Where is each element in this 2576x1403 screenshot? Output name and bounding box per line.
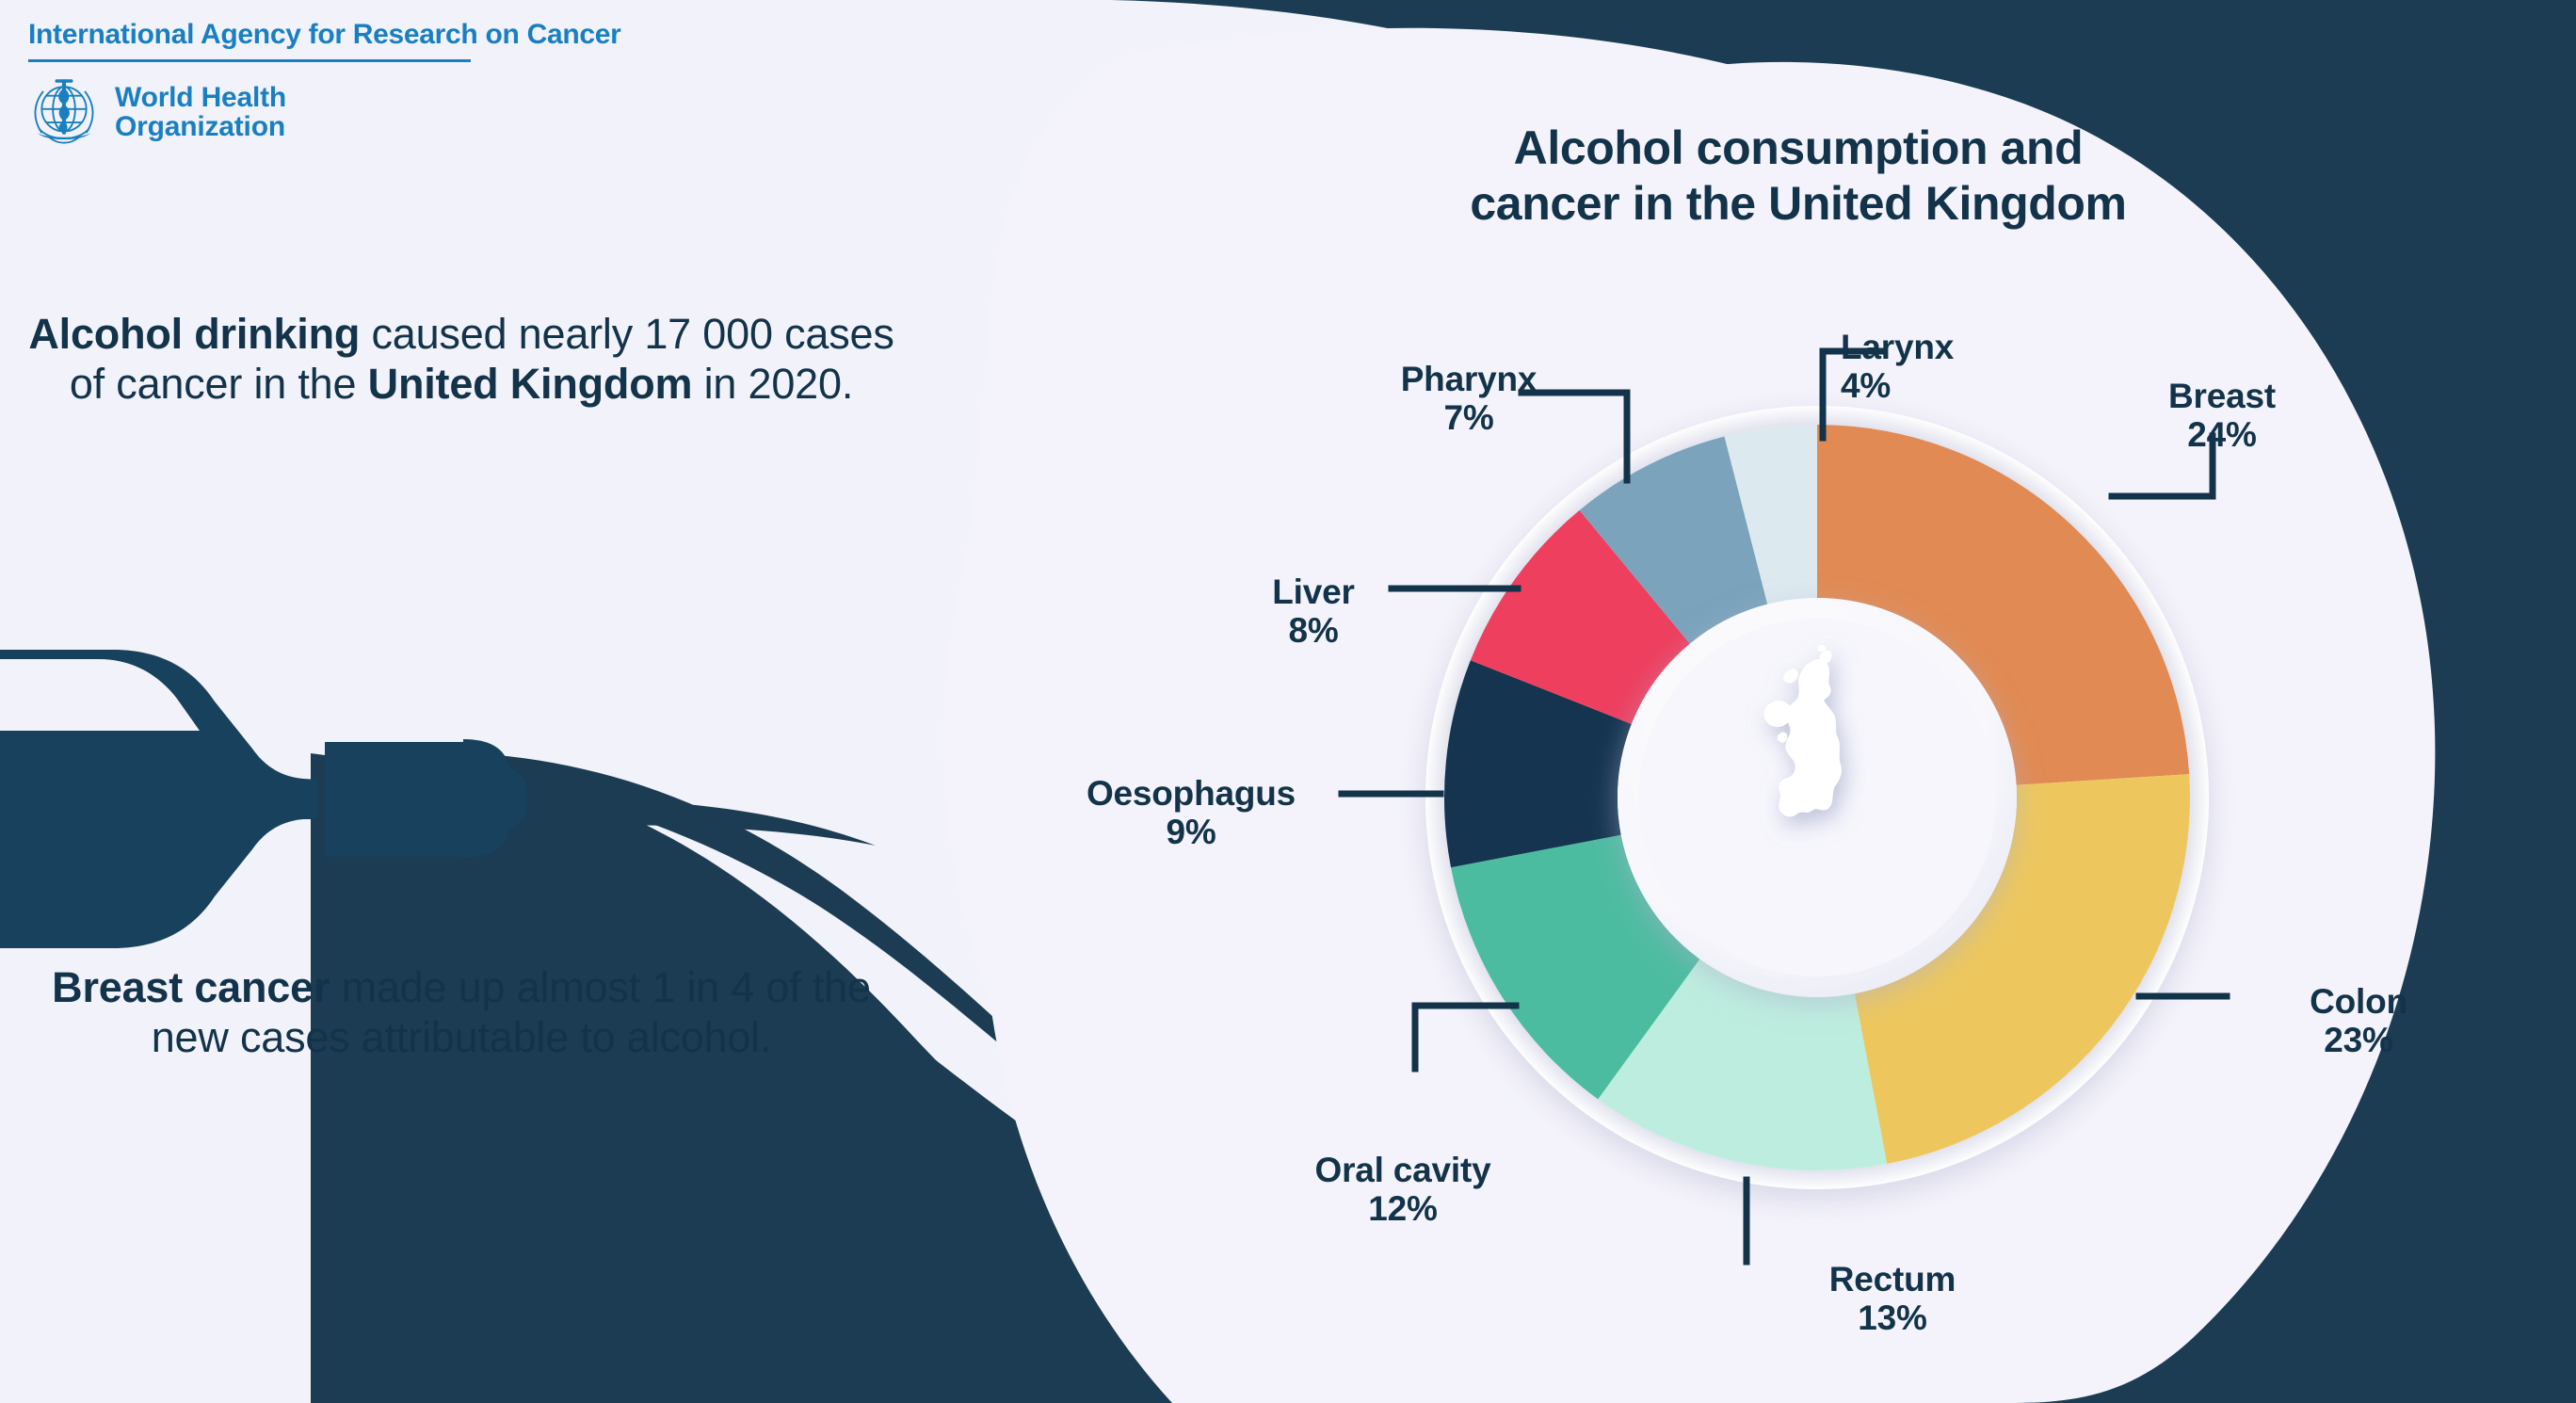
donut-label-oesophagus: Oesophagus 9% [1012, 774, 1370, 852]
donut-label-liver-name: Liver [1272, 572, 1354, 611]
donut-label-oral-cavity-name: Oral cavity [1314, 1151, 1490, 1189]
donut-label-larynx: Larynx 4% [1841, 328, 2076, 406]
donut-label-pharynx-pct: 7% [1356, 398, 1582, 437]
donut-label-colon-pct: 23% [2250, 1021, 2467, 1059]
donut-label-pharynx-name: Pharynx [1401, 360, 1538, 398]
donut-label-breast: Breast 24% [2109, 377, 2335, 455]
donut-label-rectum: Rectum 13% [1779, 1260, 2005, 1338]
donut-label-breast-pct: 24% [2109, 415, 2335, 454]
donut-label-rectum-pct: 13% [1779, 1298, 2005, 1337]
donut-label-oesophagus-pct: 9% [1012, 813, 1370, 851]
donut-label-oral-cavity: Oral cavity 12% [1262, 1151, 1544, 1229]
donut-label-pharynx: Pharynx 7% [1356, 360, 1582, 438]
donut-label-liver-pct: 8% [1224, 611, 1403, 650]
donut-label-breast-name: Breast [2168, 377, 2276, 415]
donut-label-oesophagus-name: Oesophagus [1087, 774, 1296, 813]
donut-label-rectum-name: Rectum [1829, 1260, 1956, 1298]
donut-label-liver: Liver 8% [1224, 572, 1403, 651]
donut-label-colon-name: Colon [2310, 982, 2407, 1021]
donut-label-oral-cavity-pct: 12% [1262, 1189, 1544, 1228]
leader-line-oral-cavity [1415, 1006, 1516, 1069]
donut-label-larynx-name: Larynx [1841, 328, 1954, 366]
donut-label-colon: Colon 23% [2250, 982, 2467, 1060]
donut-label-larynx-pct: 4% [1841, 366, 2076, 405]
infographic-canvas: International Agency for Research on Can… [0, 0, 2576, 1403]
